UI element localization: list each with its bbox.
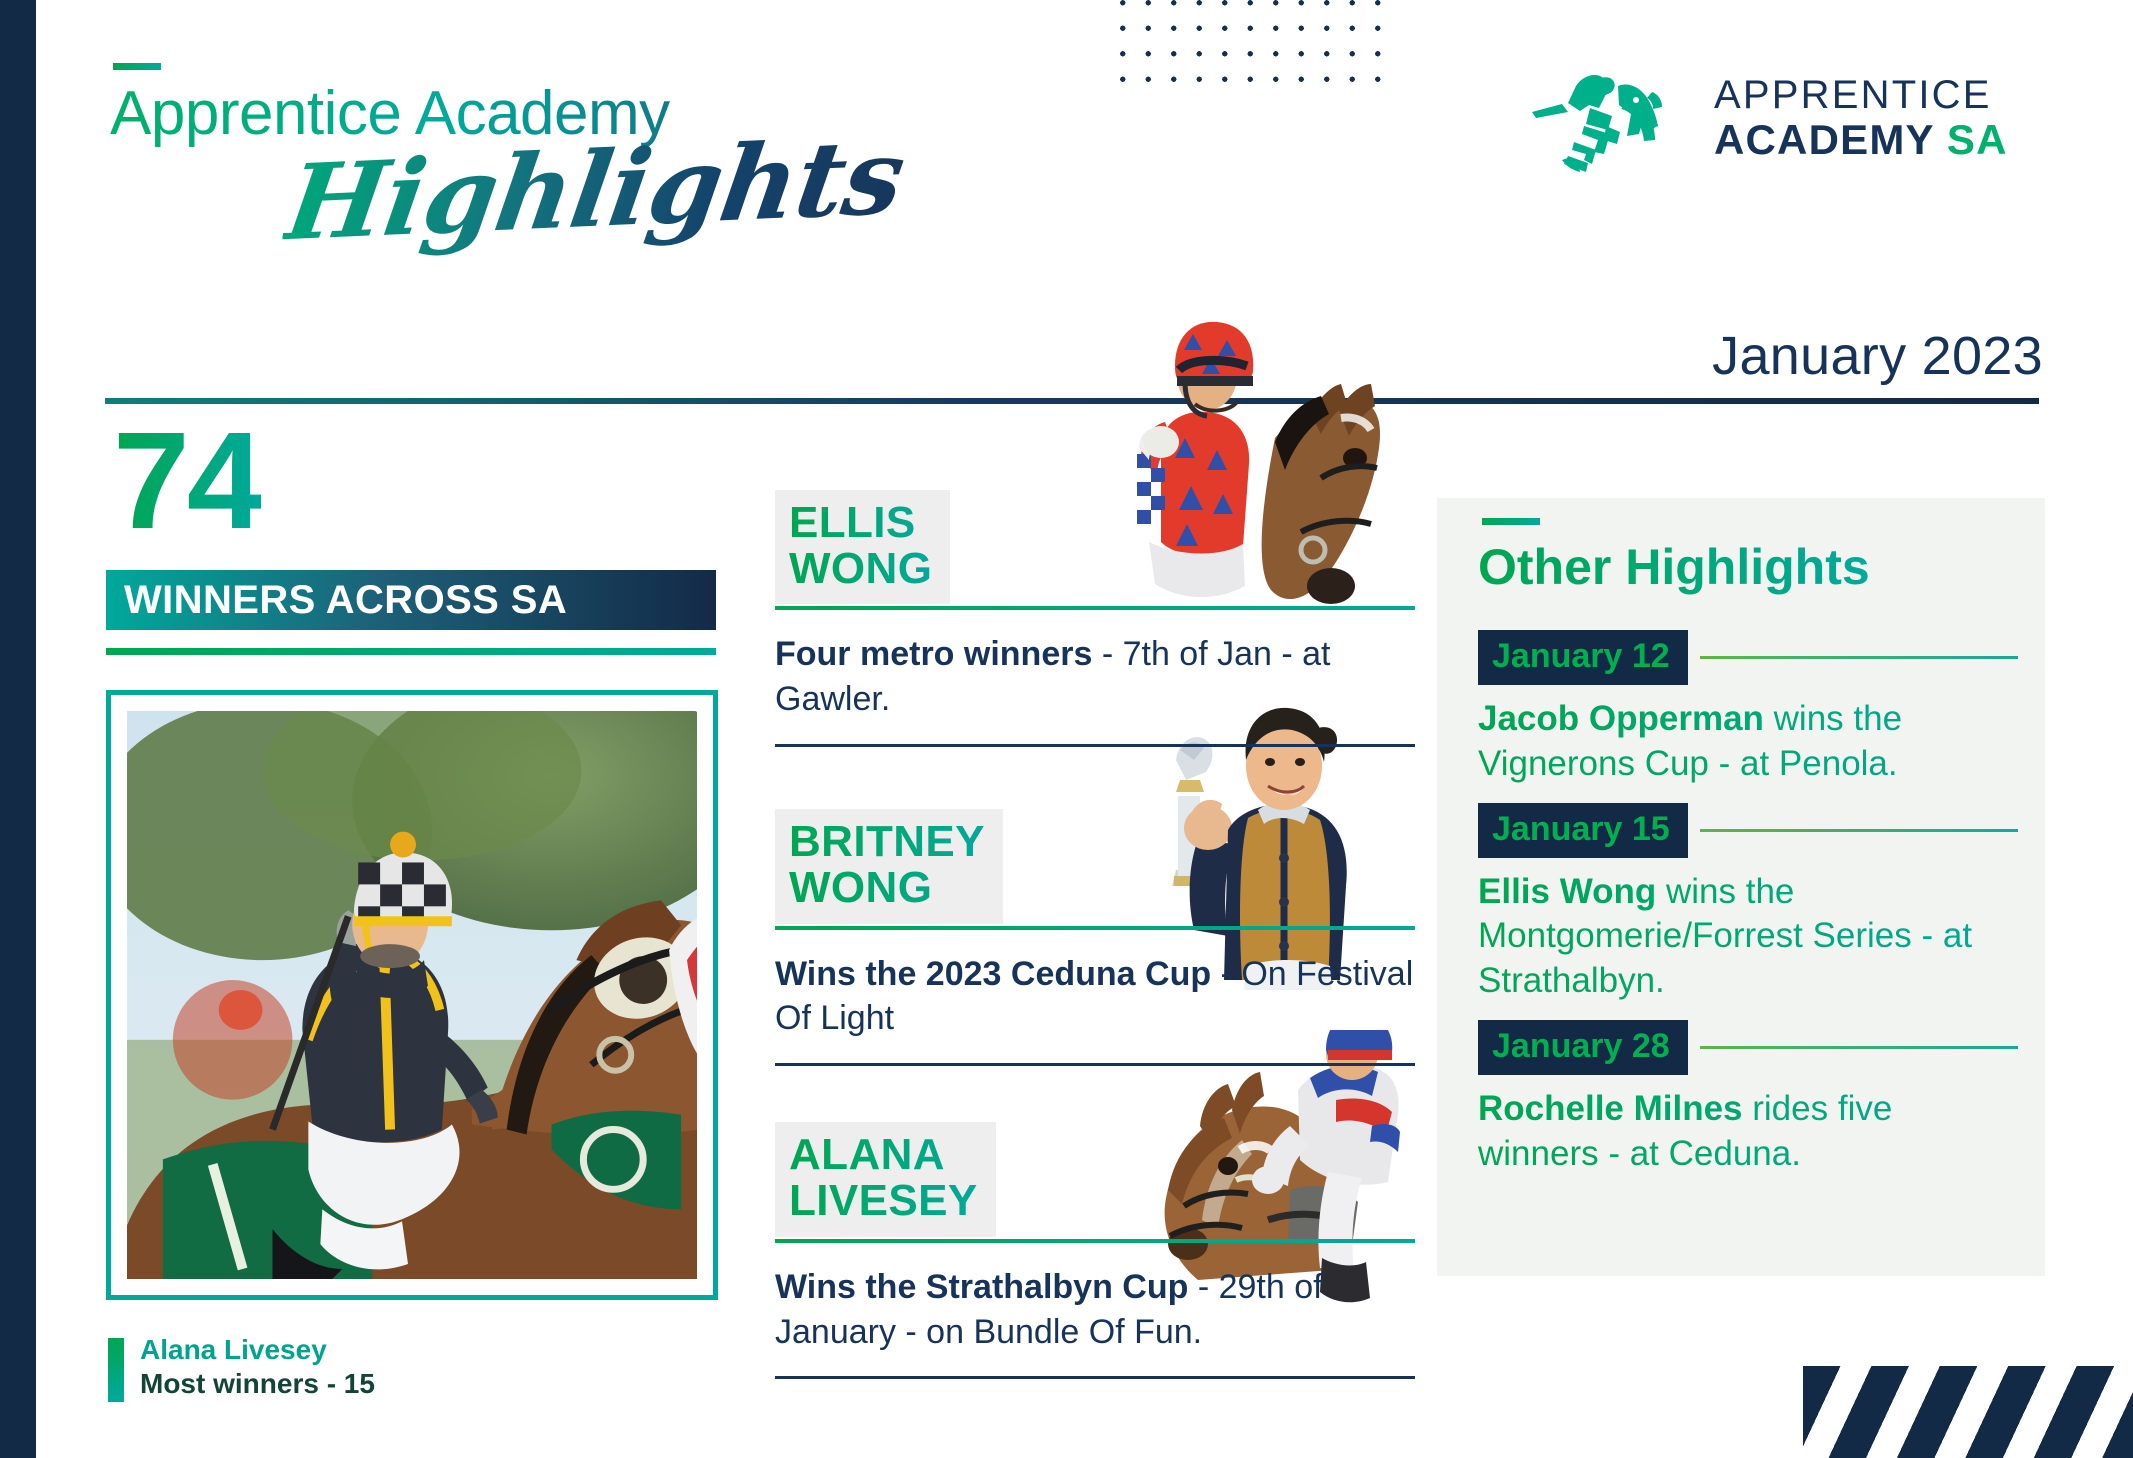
highlight-text-bold: Jacob Opperman (1478, 699, 1764, 738)
highlight-header: January 28 (1478, 1020, 2018, 1075)
other-highlights-title: Other Highlights (1478, 538, 1870, 596)
issue-month: January 2023 (1712, 325, 2043, 387)
highlight-rule (1700, 829, 2018, 832)
highlight-rule (1700, 1046, 2018, 1049)
rider-description: Wins the 2023 Ceduna Cup - On Festival O… (775, 952, 1415, 1042)
rider-name-line2: WONG (789, 546, 932, 592)
rider-entry: BRITNEY WONG Wins the 2023 Ceduna Cup - … (775, 809, 1415, 1066)
rider-description: Wins the Strathalbyn Cup - 29th of Janua… (775, 1265, 1415, 1355)
logo-academy-text: ACADEMY (1714, 116, 1934, 163)
highlight-item: January 28 Rochelle Milnes rides five wi… (1478, 1020, 2018, 1177)
winners-banner: WINNERS ACROSS SA (106, 570, 716, 630)
highlight-text: Jacob Opperman wins the Vignerons Cup - … (1478, 697, 2018, 787)
rider-name-line1: ELLIS (789, 500, 932, 546)
rider-description-bold: Wins the 2023 Ceduna Cup (775, 955, 1211, 993)
highlight-date-badge: January 15 (1478, 803, 1688, 858)
rider-separator (775, 1376, 1415, 1379)
logo-line-apprentice: APPRENTICE (1714, 75, 2008, 115)
rider-description-bold: Four metro winners (775, 635, 1092, 673)
highlight-item: January 15 Ellis Wong wins the Montgomer… (1478, 803, 2018, 1004)
alana-livesey-photo-illustration (127, 711, 697, 1279)
infographic-page: Apprentice Academy Highlights (0, 0, 2133, 1458)
rider-name-line1: ALANA (789, 1132, 978, 1178)
rider-name-tag: ELLIS WONG (775, 490, 950, 604)
logo-sa-text: SA (1947, 116, 2008, 163)
highlight-text-bold: Ellis Wong (1478, 872, 1656, 911)
title-accent-dash (113, 63, 161, 70)
left-navy-edge-bar (0, 0, 36, 1458)
rider-entry: ELLIS WONG Four metro winners - 7th of J… (775, 490, 1415, 747)
feature-photo-frame (106, 690, 718, 1300)
feature-photo (127, 711, 697, 1279)
winners-banner-label: WINNERS ACROSS SA (124, 578, 567, 623)
caption-accent-bar (108, 1338, 124, 1402)
feature-photo-caption-name: Alana Livesey (140, 1334, 327, 1366)
rider-separator (775, 1063, 1415, 1066)
rider-accent-rule (775, 606, 1415, 610)
rider-name-line1: BRITNEY (789, 819, 985, 865)
highlight-text-bold: Rochelle Milnes (1478, 1089, 1743, 1128)
highlight-item: January 12 Jacob Opperman wins the Vigne… (1478, 630, 2018, 787)
rider-separator (775, 744, 1415, 747)
rider-name-tag: ALANA LIVESEY (775, 1122, 996, 1236)
rider-accent-rule (775, 926, 1415, 930)
rider-description-bold: Wins the Strathalbyn Cup (775, 1268, 1188, 1306)
rider-name-line2: WONG (789, 865, 985, 911)
logo-line-academy-sa: ACADEMY SA (1714, 119, 2008, 161)
highlight-date-badge: January 28 (1478, 1020, 1688, 1075)
winners-count: 74 (113, 412, 261, 550)
feature-photo-caption-sub: Most winners - 15 (140, 1368, 375, 1400)
rider-accent-rule (775, 1239, 1415, 1243)
jockey-horse-icon (1532, 64, 1692, 172)
other-highlights-accent-dash (1482, 518, 1540, 525)
winners-banner-rule (106, 648, 716, 655)
brand-logo: APPRENTICE ACADEMY SA (1532, 62, 2092, 174)
highlight-text: Rochelle Milnes rides five winners - at … (1478, 1087, 2018, 1177)
rider-entry: ALANA LIVESEY Wins the Strathalbyn Cup -… (775, 1122, 1415, 1379)
highlight-date-badge: January 12 (1478, 630, 1688, 685)
page-title-script: Highlights (278, 115, 911, 264)
rider-description: Four metro winners - 7th of Jan - at Gaw… (775, 632, 1415, 722)
highlight-header: January 15 (1478, 803, 2018, 858)
header-divider-rule (105, 398, 2039, 404)
highlight-rule (1700, 656, 2018, 659)
corner-stripes-decoration (1803, 1366, 2133, 1458)
other-highlights-list: January 12 Jacob Opperman wins the Vigne… (1478, 630, 2018, 1193)
logo-wordmark: APPRENTICE ACADEMY SA (1714, 75, 2008, 161)
highlight-header: January 12 (1478, 630, 2018, 685)
highlight-text: Ellis Wong wins the Montgomerie/Forrest … (1478, 870, 2018, 1004)
rider-highlights-column: ELLIS WONG Four metro winners - 7th of J… (775, 490, 1415, 1379)
rider-name-line2: LIVESEY (789, 1178, 978, 1224)
dot-grid-decoration (1108, 0, 1386, 95)
rider-name-tag: BRITNEY WONG (775, 809, 1003, 923)
